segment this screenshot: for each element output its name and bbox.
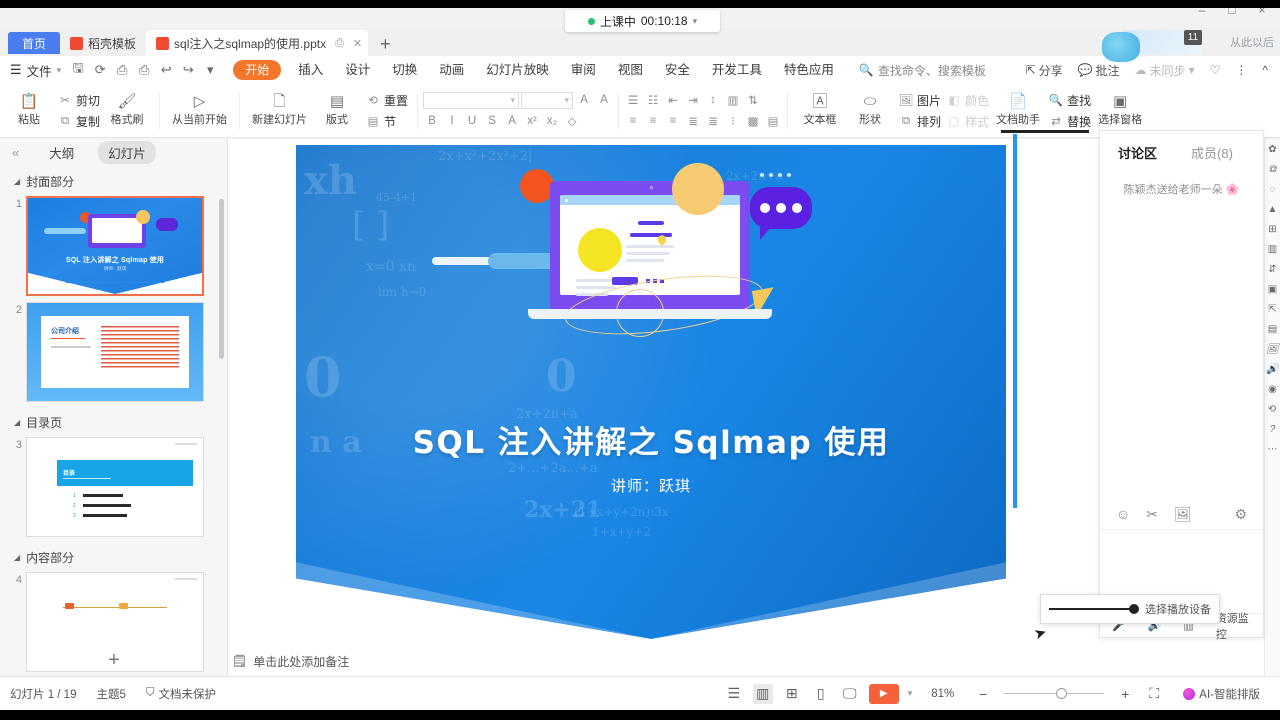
layout-label: 版式 (326, 111, 348, 127)
tab-home-label: 首页 (22, 35, 46, 52)
ribbon-tab-start[interactable]: 开始 (233, 60, 281, 80)
reading-view-icon[interactable]: ▯ (811, 684, 831, 704)
picture-icon: 🖼 (897, 92, 915, 109)
design-idea-icon[interactable]: ✿ (1268, 145, 1276, 155)
copy-button[interactable]: ⧉ 复制 (56, 113, 100, 130)
numbered-list-icon[interactable]: ☷ (644, 92, 662, 109)
save-icon[interactable]: 🖫 (67, 59, 89, 81)
thumb-num: 3 (73, 513, 76, 519)
find-icon: 🔍 (1047, 92, 1065, 109)
thumb-band: 目录 (57, 460, 193, 486)
dove-template-icon (70, 37, 83, 50)
slide-thumbnail-1[interactable]: SQL 注入讲解之 Sqlmap 使用 讲师：跃琪 (26, 196, 204, 296)
more-icon: ⋮ (1235, 63, 1247, 77)
hamburger-icon: ☰ (10, 62, 22, 78)
picture-button[interactable]: 🖼 图片 (897, 92, 941, 109)
chevron-down-icon: ▾ (1189, 63, 1195, 77)
cut-button[interactable]: ✂ 剪切 (56, 92, 100, 109)
fit-to-window-icon[interactable]: ⛶ (1144, 684, 1164, 704)
illustration-blue-bar (488, 253, 558, 269)
style-icon: ▢ (945, 113, 963, 130)
ribbon-divider (239, 93, 240, 129)
chart-icon[interactable]: ▥ (1268, 245, 1277, 255)
slide-subtitle[interactable]: 讲师：跃琪 (296, 475, 1006, 496)
thumb-text-line (51, 346, 91, 348)
arrange-button[interactable]: ⧉ 排列 (897, 113, 941, 130)
slide-illustration (492, 161, 822, 361)
message-text: 陈颖杰送给老师一朵 (1124, 184, 1223, 196)
ribbon-tab-devtools[interactable]: 开发工具 (701, 58, 773, 82)
list-item[interactable]: 2 公司介绍 (0, 300, 227, 406)
volume-knob[interactable] (1129, 604, 1139, 614)
slide-title[interactable]: SQL 注入讲解之 Sqlmap 使用 (296, 417, 1006, 462)
thumb-title: 公司介绍 (51, 326, 79, 336)
underline-icon[interactable]: U (463, 113, 481, 130)
clear-format-icon[interactable]: ◇ (563, 113, 581, 130)
illustration-bubble-dot (776, 203, 786, 213)
bold-icon[interactable]: B (423, 113, 441, 130)
illustration-yellow-circle (578, 228, 622, 272)
cut-label: 剪切 (76, 92, 100, 109)
paragraph-row-1: ☰ ☷ ⇤ ⇥ ↕ ▥ ⇅ (624, 92, 782, 109)
zoom-slider[interactable] (1004, 693, 1104, 694)
thumb-laptop-screen (92, 218, 142, 243)
settings-icon[interactable]: ⚙ (1234, 506, 1247, 523)
thumb-line (63, 607, 167, 608)
thumb-bar (44, 228, 86, 234)
layout-icon: ▤ (330, 94, 344, 110)
panel-accent-bar (1013, 134, 1017, 508)
tab-active-document[interactable]: sql注入之sqlmap的使用.pptx ⎙ ✕ (146, 30, 368, 56)
bg-formula: 2+...+2a...+a (508, 461, 598, 476)
tab-dove-template-label: 稻壳模板 (88, 35, 136, 52)
more-paragraph-icon[interactable]: ▤ (764, 113, 782, 130)
bg-formula: lim h→0 (378, 285, 426, 299)
illustration-bubble-dot (792, 203, 802, 213)
align-left-icon[interactable]: ≡ (624, 113, 642, 130)
print-icon[interactable]: ⎙ (111, 59, 133, 81)
textbox-button[interactable]: 🄰 文本框 (795, 86, 845, 136)
selection-pane-icon: ▣ (1113, 94, 1127, 110)
customize-icon[interactable]: ▾ (199, 59, 221, 81)
decrease-indent-icon[interactable]: ⇤ (664, 92, 682, 109)
thumb-num: 2 (73, 503, 76, 509)
more-dots-icon[interactable]: ⋯ (1268, 445, 1278, 455)
slide-list-scrollbar[interactable] (219, 199, 224, 359)
subscript-icon[interactable]: x₂ (543, 113, 561, 130)
shrink-font-icon[interactable]: A (595, 92, 613, 109)
text-direction-icon[interactable]: ⇅ (744, 92, 762, 109)
search-icon: 🔍 (859, 63, 874, 77)
find-button[interactable]: 🔍 查找 (1047, 92, 1091, 109)
thumb-line (66, 282, 164, 283)
textbox-icon: 🄰 (813, 94, 828, 110)
section-label: 封面部分 (26, 173, 74, 190)
scissors-icon: ✂ (56, 92, 74, 109)
message-list: 陈颖杰送给老师一朵 🌸 (1100, 162, 1263, 199)
grid-icon[interactable]: ⊞ (1268, 225, 1276, 235)
share-out-icon[interactable]: ⇱ (1268, 305, 1276, 315)
presenter-view-icon[interactable]: 🖵 (840, 684, 860, 704)
section-icon: ▤ (364, 113, 382, 130)
strikethrough-icon[interactable]: S (483, 113, 501, 130)
bg-formula: xh (304, 157, 357, 204)
search-command-box[interactable]: 🔍 查找命令、搜索模板 (859, 62, 986, 79)
redo-icon[interactable]: ↪ (177, 59, 199, 81)
ribbon-group-clipboard: 📋 粘贴 ✂ 剪切 ⧉ 复制 🖌 格式刷 (0, 86, 156, 136)
audio-icon[interactable]: 🔊 (1266, 365, 1278, 375)
thumb-line (83, 504, 131, 507)
watermark-icon[interactable]: ▲ (1268, 205, 1278, 215)
more-menu-button[interactable]: ⋮ (1229, 63, 1253, 77)
slide-number: 1 (8, 196, 22, 210)
tab-pin-icon[interactable]: ⎙ (335, 37, 344, 50)
collapse-ribbon-button[interactable]: ^ (1256, 63, 1274, 77)
tab-outline[interactable]: 大纲 (39, 141, 84, 164)
ribbon-group-insert: 🄰 文本框 ⬭ 形状 🖼 图片 ⧉ 排列 ◧ 颜色 (791, 86, 1151, 136)
help-icon[interactable]: ? (1270, 425, 1276, 435)
current-slide[interactable]: xh 2x+x²+2x²+2| 45-4+1 [ ] x=0 xn lim h→… (296, 145, 1006, 639)
ppt-file-icon (156, 37, 169, 50)
shield-icon: ⛉ (146, 687, 155, 700)
format-painter-icon: 🖌 (117, 94, 136, 110)
new-slide-label: 新建幻灯片 (252, 111, 307, 127)
tab-members[interactable]: 成员(8) (1191, 143, 1233, 162)
ai-layout-label: AI-智能排版 (1199, 686, 1260, 702)
image-lib-icon[interactable]: 🖼 (1266, 345, 1279, 355)
replace-button[interactable]: ⇄ 替换 (1047, 113, 1091, 130)
play-from-current-label: 从当前开始 (172, 111, 227, 127)
illustration-speech-bubble (750, 187, 812, 229)
insert-inline-group: 🖼 图片 ⧉ 排列 (895, 86, 943, 136)
slide-thumbnail-3[interactable]: 目录 1 2 3 (26, 437, 204, 537)
illustration-mini-dots (760, 173, 791, 177)
pane-header: « 大纲 幻灯片 (0, 139, 227, 165)
columns-icon[interactable]: ▥ (724, 92, 742, 109)
paste-label: 粘贴 (18, 111, 40, 127)
section-header-content[interactable]: ◢ 内容部分 (0, 541, 227, 570)
font-size-select[interactable]: ▾ (521, 92, 573, 109)
ribbon-tab-slideshow[interactable]: 幻灯片放映 (475, 58, 560, 82)
paragraph-row-2: ≡ ≡ ≡ ≣ ≣ ⁝ ▩ ▤ (624, 113, 782, 130)
normal-view-icon[interactable]: ▥ (753, 684, 773, 704)
thumb-card: 公司介绍 (41, 316, 189, 388)
new-slide-button[interactable]: 🗋 新建幻灯片 (247, 86, 312, 136)
live-dot-icon (588, 18, 595, 25)
arrange-icon: ⧉ (897, 113, 915, 130)
right-tool-rail: ✿ ⧉ ◌ ▲ ⊞ ▥ ⇵ ▣ ⇱ ▤ 🖼 🔊 ◉ ⟲ ? ⋯ (1264, 139, 1280, 676)
backup-icon: ♡ (1210, 63, 1221, 77)
ribbon-divider (417, 93, 418, 129)
outline-view-icon[interactable]: ☰ (724, 684, 744, 704)
top-right-note: 从此以后 (1230, 34, 1274, 50)
bg-formula: 45-4+1 (376, 191, 417, 204)
sync-label: 未同步 (1150, 62, 1186, 79)
textbox-label: 文本框 (804, 111, 837, 127)
justify-icon[interactable]: ≣ (684, 113, 702, 130)
status-bar: 幻灯片 1 / 19 主题5 ⛉ 文档未保护 ☰ ▥ ⊞ ▯ 🖵 ▶ ▾ 81%… (0, 676, 1280, 710)
layout-button[interactable]: ▤ 版式 (312, 86, 362, 136)
copy-icon: ⧉ (56, 113, 74, 130)
sync-icon: ☁ (1135, 63, 1147, 77)
selection-pane-button[interactable]: ▣ 选择窗格 (1093, 86, 1147, 136)
audio-device-popover[interactable]: 选择播放设备 (1040, 594, 1220, 624)
notes-placeholder: 单击此处添加备注 (253, 653, 349, 670)
reset-button[interactable]: ⟲ 重置 (364, 92, 408, 109)
scissors-icon[interactable]: ✂ (1146, 506, 1158, 523)
ribbon-tab-view[interactable]: 视图 (607, 58, 654, 82)
ribbon-tabs: 开始 插入 设计 切换 动画 幻灯片放映 审阅 视图 安全 开发工具 特色应用 (227, 58, 845, 82)
style-button: ▢ 样式 (945, 113, 989, 130)
smart-layout-icon[interactable]: ⧉ (1269, 165, 1276, 175)
reset-icon: ⟲ (364, 92, 382, 109)
media-icon[interactable]: ▣ (1268, 285, 1277, 295)
document-protection[interactable]: ⛉ 文档未保护 (136, 686, 226, 702)
ribbon-tab-security[interactable]: 安全 (654, 58, 701, 82)
undo-icon[interactable]: ↩ (155, 59, 177, 81)
zoom-out-button[interactable]: − (973, 684, 993, 704)
discussion-panel: 讨论区 成员(8) 陈颖杰送给老师一朵 🌸 ☺ ✂ 🖼 ⚙ 🎤 🔊 ▥ 资源监控 (1099, 130, 1264, 638)
format-painter-label: 格式刷 (111, 111, 144, 127)
menu-right-actions: ⇱ 分享 💬 批注 ☁ 未同步 ▾ ♡ ⋮ ^ (1020, 62, 1280, 79)
clipboard-inline-group: ✂ 剪切 ⧉ 复制 (54, 86, 102, 136)
smartart-icon[interactable]: ▩ (744, 113, 762, 130)
bullet-list-icon[interactable]: ☰ (624, 92, 642, 109)
notes-icon: 🗒 (232, 654, 247, 668)
doc-assistant-label: 文档助手 (996, 111, 1040, 127)
ribbon-tab-insert[interactable]: 插入 (287, 58, 334, 82)
section-label: 内容部分 (26, 549, 74, 566)
zoom-value[interactable]: 81% (921, 688, 964, 700)
tab-active-document-label: sql注入之sqlmap的使用.pptx (174, 35, 326, 52)
list-item[interactable]: 1 SQL 注入讲解之 Sqlmap 使用 讲师：跃琪 (0, 194, 227, 300)
emoji-icon[interactable]: ☺ (1116, 506, 1130, 522)
format-painter-button[interactable]: 🖌 格式刷 (102, 86, 152, 136)
color-label: 颜色 (965, 92, 989, 109)
thumb-text-block (101, 326, 179, 368)
font-row-1: ▾ ▾ A A (423, 92, 613, 109)
add-slide-button[interactable]: + (0, 646, 228, 674)
ribbon-tab-review[interactable]: 审阅 (560, 58, 607, 82)
chevron-down-icon: ◢ (14, 418, 20, 427)
list-item[interactable]: 3 目录 1 2 3 (0, 435, 227, 541)
comment-icon: 💬 (1078, 63, 1093, 77)
share-button[interactable]: ⇱ 分享 (1020, 62, 1069, 79)
section-button[interactable]: ▤ 节 (364, 113, 408, 130)
flower-icon: 🌸 (1226, 184, 1240, 196)
illustration-bubble-dot (760, 203, 770, 213)
notes-pane[interactable]: 🗒 单击此处添加备注 (228, 646, 1280, 676)
thumb-underline (63, 478, 111, 479)
image-icon[interactable]: 🖼 (1174, 506, 1192, 523)
illustration-line (626, 245, 674, 248)
ai-dot-icon (1183, 688, 1195, 700)
doc-assistant-button[interactable]: 📄 文档助手 (991, 86, 1045, 136)
shape-label: 形状 (859, 111, 881, 127)
ribbon-group-paragraph: ☰ ☷ ⇤ ⇥ ↕ ▥ ⇅ ≡ ≡ ≡ ≣ ≣ ⁝ ▩ ▤ (622, 86, 784, 136)
slides-inline-group: ⟲ 重置 ▤ 节 (362, 86, 410, 136)
doc-assistant-icon: 📄 (1009, 94, 1028, 110)
replace-icon: ⇄ (1047, 113, 1065, 130)
superscript-icon[interactable]: x² (523, 113, 541, 130)
illustration-orange-circle (520, 169, 554, 203)
find-replace-group: 🔍 查找 ⇄ 替换 (1045, 86, 1093, 136)
ribbon-divider (787, 93, 788, 129)
thumb-corner-mark (175, 443, 197, 445)
color-icon: ◧ (945, 92, 963, 109)
chevron-down-icon: ◢ (14, 177, 20, 186)
thumb-subtitle: 讲师：跃琪 (28, 266, 202, 272)
ribbon-divider (159, 93, 160, 129)
font-color-icon[interactable]: A (503, 113, 521, 130)
thumb-corner-mark (175, 578, 197, 580)
print-preview-icon[interactable]: ⎙ (133, 59, 155, 81)
ribbon-group-slideshow: ▷ 从当前开始 (163, 86, 236, 136)
bg-formula: x=0 xn (366, 259, 416, 275)
history-icon[interactable]: ⟲ (1268, 405, 1276, 415)
avatar[interactable] (1102, 32, 1140, 62)
class-status-label: 上课中 (600, 13, 636, 30)
composer-toolbar: ☺ ✂ 🖼 ⚙ (1100, 499, 1263, 529)
ribbon-group-font: ▾ ▾ A A B I U S A x² x₂ ◇ (421, 86, 615, 136)
find-label: 查找 (1067, 92, 1091, 109)
search-placeholder: 查找命令、搜索模板 (878, 62, 986, 79)
insert-inline-group-2: ◧ 颜色 ▢ 样式 (943, 86, 991, 136)
collapse-left-icon[interactable]: « (6, 145, 25, 160)
thumb-rule (51, 338, 85, 339)
ribbon-tab-transition[interactable]: 切换 (381, 58, 428, 82)
thumb-art: 公司介绍 (27, 303, 203, 401)
distribute-icon[interactable]: ≣ (704, 113, 722, 130)
ribbon-tab-design[interactable]: 设计 (334, 58, 381, 82)
illustration-laptop-base (528, 309, 772, 319)
notification-badge[interactable]: 11 (1184, 30, 1202, 45)
bg-formula: [ ] (352, 205, 389, 245)
thumb-marker (119, 603, 128, 609)
letterbox-top (0, 0, 1280, 8)
thumb-art: 目录 1 2 3 (27, 438, 203, 536)
comment-button[interactable]: 💬 批注 (1072, 62, 1126, 79)
menu-bar: ☰ 文件 ▾ 🖫 ⟳ ⎙ ⎙ ↩ ↪ ▾ 开始 插入 设计 切换 动画 幻灯片放… (0, 56, 1280, 84)
play-from-current-icon: ▷ (194, 94, 206, 110)
discussion-tabs: 讨论区 成员(8) (1100, 131, 1263, 162)
illustration-sand-circle (672, 163, 724, 215)
italic-icon[interactable]: I (443, 113, 461, 130)
chevron-down-icon[interactable]: ▾ (693, 16, 698, 27)
thumb-num: 1 (73, 493, 76, 499)
tab-slides[interactable]: 幻灯片 (98, 141, 156, 164)
wps-presentation-window: 上课中 00:10:18 ▾ – □ × 首页 稻壳模板 sql注入之sqlma… (0, 0, 1280, 720)
selection-pane-label: 选择窗格 (1098, 111, 1142, 127)
slide-list: ◢ 封面部分 1 SQL 注入讲解之 Sqlmap 使用 讲师：跃琪 (0, 165, 227, 676)
share-icon: ⇱ (1026, 63, 1036, 77)
shape-button[interactable]: ⬭ 形状 (845, 86, 895, 136)
grow-font-icon[interactable]: A (575, 92, 593, 109)
thumb-line (83, 494, 123, 497)
shape-library-icon[interactable]: ◌ (1270, 185, 1276, 195)
copy-label: 复制 (76, 113, 100, 130)
backup-button[interactable]: ♡ (1204, 63, 1227, 77)
style-label: 样式 (965, 113, 989, 130)
slide-navigator-pane: « 大纲 幻灯片 ◢ 封面部分 1 (0, 139, 228, 676)
class-timer: 00:10:18 (641, 14, 688, 28)
protection-label: 文档未保护 (159, 686, 217, 702)
share-label: 分享 (1039, 62, 1063, 79)
new-slide-icon: 🗋 (273, 94, 285, 110)
paste-button[interactable]: 📋 粘贴 (4, 86, 54, 136)
increase-indent-icon[interactable]: ⇥ (684, 92, 702, 109)
start-slideshow-button[interactable]: ▶ (869, 684, 899, 704)
new-tab-button[interactable]: + (368, 35, 403, 53)
chevron-down-icon: ▾ (57, 65, 62, 76)
zoom-knob[interactable] (1056, 688, 1067, 699)
file-menu-label: 文件 (27, 61, 52, 80)
section-label: 节 (384, 113, 396, 130)
illustration-line (576, 286, 616, 289)
list-item: 陈颖杰送给老师一朵 🌸 (1108, 182, 1255, 199)
picture-label: 图片 (917, 92, 941, 109)
thumb-line (83, 514, 127, 517)
sync-status-button[interactable]: ☁ 未同步 ▾ (1129, 62, 1201, 79)
volume-slider[interactable] (1049, 608, 1137, 610)
illustration-line (626, 259, 664, 262)
section-header-toc[interactable]: ◢ 目录页 (0, 406, 227, 435)
slide-sorter-icon[interactable]: ⊞ (782, 684, 802, 704)
slide-thumbnail-2[interactable]: 公司介绍 (26, 302, 204, 402)
play-from-current-button[interactable]: ▷ 从当前开始 (167, 86, 232, 136)
bg-formula: 0 (304, 345, 342, 409)
collapse-ribbon-icon: ^ (1262, 63, 1268, 77)
audio-device-label: 选择播放设备 (1145, 601, 1211, 617)
tab-close-icon[interactable]: ✕ (353, 37, 362, 50)
ribbon-tab-animation[interactable]: 动画 (428, 58, 475, 82)
illustration-line (638, 221, 664, 225)
thumb-title: 目录 (63, 468, 75, 477)
section-header-cover[interactable]: ◢ 封面部分 (0, 165, 227, 194)
class-status-pill[interactable]: 上课中 00:10:18 ▾ (565, 10, 720, 32)
bg-formula: 1+x+y+2 (592, 525, 651, 539)
letterbox-bottom (0, 710, 1280, 720)
chevron-down-icon[interactable]: ▾ (908, 688, 913, 699)
align-right-icon[interactable]: ≡ (664, 113, 682, 130)
protect-icon[interactable]: ◉ (1268, 385, 1277, 395)
tab-dove-template[interactable]: 稻壳模板 (60, 30, 146, 56)
panel-top-underline (1001, 130, 1089, 133)
reset-label: 重置 (384, 92, 408, 109)
ribbon-tab-features[interactable]: 特色应用 (773, 58, 845, 82)
note-icon[interactable]: ▤ (1268, 325, 1277, 335)
ribbon-group-slides: 🗋 新建幻灯片 ▤ 版式 ⟲ 重置 ▤ 节 (243, 86, 414, 136)
resource-monitor-label[interactable]: 资源监控 (1216, 610, 1253, 642)
align-center-icon[interactable]: ≡ (644, 113, 662, 130)
cloud-sync-icon[interactable]: ⟳ (89, 59, 111, 81)
font-row-2: B I U S A x² x₂ ◇ (423, 113, 613, 130)
font-family-select[interactable]: ▾ (423, 92, 519, 109)
chevron-down-icon: ◢ (14, 553, 20, 562)
tab-home[interactable]: 首页 (8, 32, 60, 54)
zoom-in-button[interactable]: + (1115, 684, 1135, 704)
status-right-controls: ☰ ▥ ⊞ ▯ 🖵 ▶ ▾ 81% − + ⛶ AI-智能排版 (724, 684, 1280, 704)
filter-icon[interactable]: ⇵ (1268, 265, 1276, 275)
illustration-line (576, 279, 616, 282)
tab-discussion[interactable]: 讨论区 (1118, 143, 1157, 162)
line-spacing-icon[interactable]: ↕ (704, 92, 722, 109)
paste-icon: 📋 (20, 94, 39, 110)
smart-align-icon[interactable]: ⁝ (724, 113, 742, 130)
file-menu[interactable]: ☰ 文件 ▾ (0, 61, 67, 80)
theme-label[interactable]: 主题5 (86, 686, 135, 702)
ai-layout-button[interactable]: AI-智能排版 (1173, 686, 1270, 702)
